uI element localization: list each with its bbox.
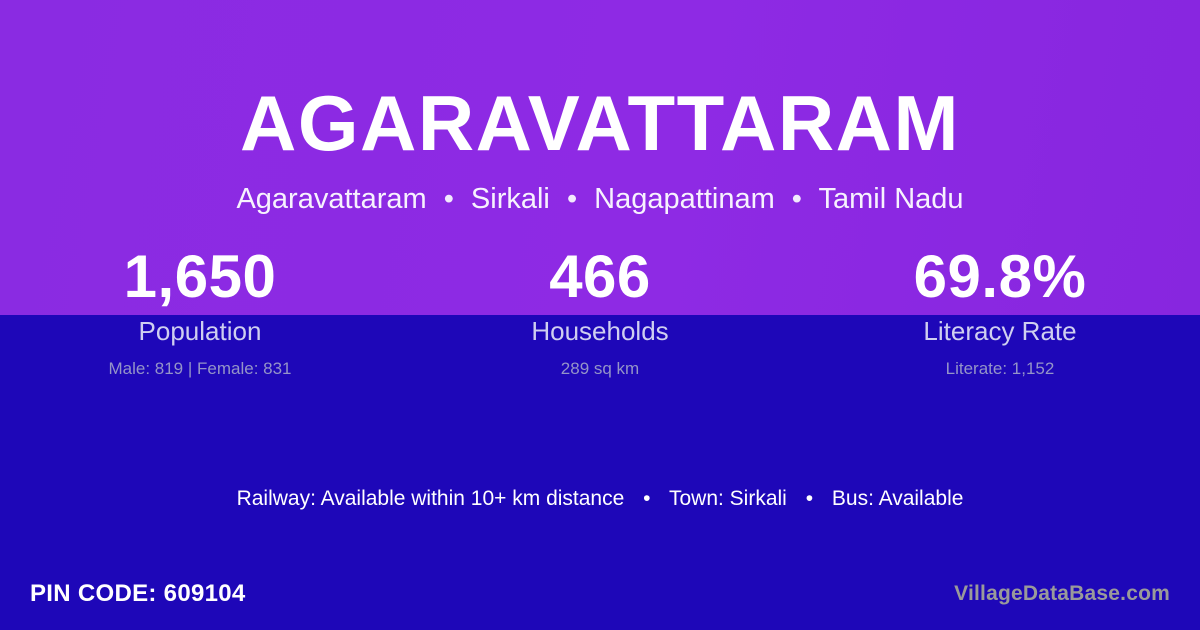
breadcrumb: Agaravattaram • Sirkali • Nagapattinam •… bbox=[0, 182, 1200, 217]
stat-population: 1,650 Population Male: 819 | Female: 831 bbox=[0, 243, 400, 388]
breadcrumb-district: Nagapattinam bbox=[594, 183, 775, 215]
stat-label: Literacy Rate bbox=[800, 314, 1200, 348]
facility-bus: Bus: Available bbox=[832, 487, 964, 510]
facility-separator-icon: • bbox=[793, 484, 826, 514]
breadcrumb-separator-icon: • bbox=[558, 182, 586, 217]
stat-households: 466 Households 289 sq km bbox=[400, 243, 800, 388]
breadcrumb-village: Agaravattaram bbox=[236, 183, 426, 215]
stat-label: Population bbox=[0, 314, 400, 348]
stat-subtext: Male: 819 | Female: 831 bbox=[0, 357, 400, 381]
page-title: AGARAVATTARAM bbox=[0, 84, 1200, 162]
stat-literacy-rate: 69.8% Literacy Rate Literate: 1,152 bbox=[800, 243, 1200, 388]
stat-subtext: 289 sq km bbox=[400, 357, 800, 381]
stat-value: 466 bbox=[400, 243, 800, 311]
footer: PIN CODE: 609104 VillageDataBase.com bbox=[0, 568, 1200, 630]
village-info-card: AGARAVATTARAM Agaravattaram • Sirkali • … bbox=[0, 0, 1200, 630]
breadcrumb-separator-icon: • bbox=[783, 182, 811, 217]
facility-railway: Railway: Available within 10+ km distanc… bbox=[237, 487, 625, 510]
breadcrumb-separator-icon: • bbox=[435, 182, 463, 217]
stat-value: 1,650 bbox=[0, 243, 400, 311]
statistics-row: 1,650 Population Male: 819 | Female: 831… bbox=[0, 243, 1200, 388]
stat-value: 69.8% bbox=[800, 243, 1200, 311]
facilities-row: Railway: Available within 10+ km distanc… bbox=[0, 484, 1200, 514]
breadcrumb-taluk: Sirkali bbox=[471, 183, 550, 215]
stat-subtext: Literate: 1,152 bbox=[800, 357, 1200, 381]
facility-separator-icon: • bbox=[630, 484, 663, 514]
site-watermark: VillageDataBase.com bbox=[954, 582, 1170, 606]
pin-code-label: PIN CODE: 609104 bbox=[30, 580, 246, 608]
stat-label: Households bbox=[400, 314, 800, 348]
breadcrumb-state: Tamil Nadu bbox=[819, 183, 964, 215]
facility-town: Town: Sirkali bbox=[669, 487, 787, 510]
